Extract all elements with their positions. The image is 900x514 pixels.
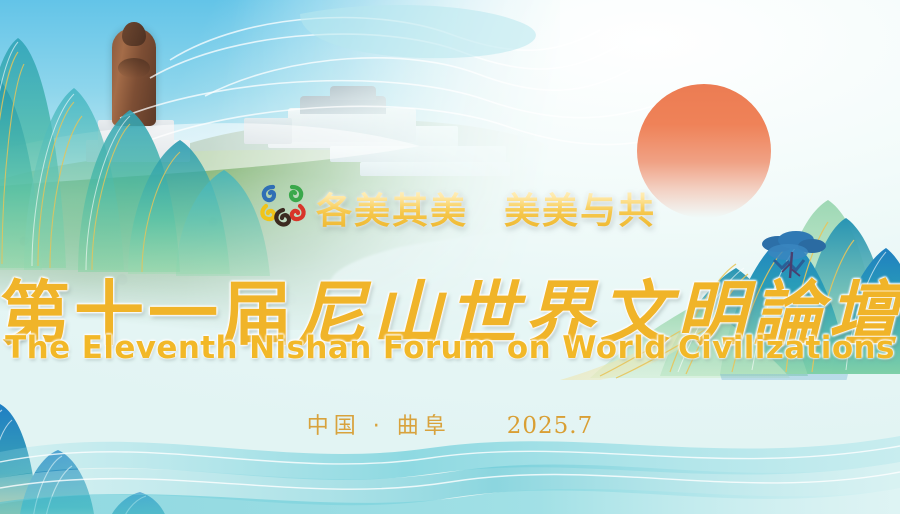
stylized-mountains-left [0,18,300,278]
footer-location: 中国 · 曲阜 [307,414,451,439]
page-title-english: The Eleventh Nishan Forum on World Civil… [0,330,900,366]
nishan-forum-logo-icon [256,180,310,230]
nishan-forum-poster: 各美其美美美与共 第十一届尼山世界文明論壇 The Eleventh Nisha… [0,0,900,514]
footer-meta: 中国 · 曲阜2025.7 [0,408,900,440]
footer-date: 2025.7 [507,413,593,439]
slogan-left: 各美其美 [316,191,468,232]
forum-slogan: 各美其美美美与共 [316,182,656,230]
slogan-right: 美美与共 [504,191,656,232]
